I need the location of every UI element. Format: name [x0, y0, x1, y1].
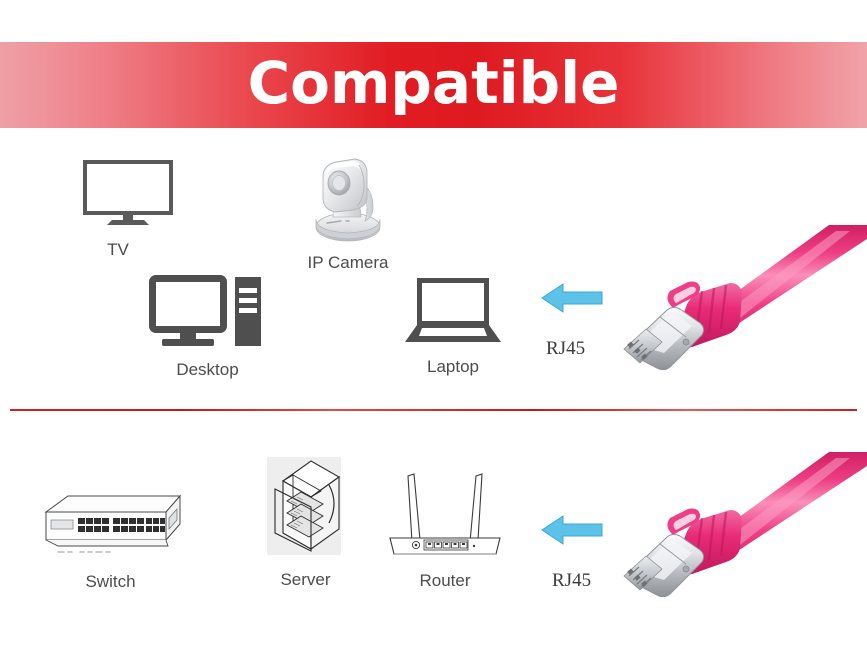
device-label-switch: Switch	[28, 572, 193, 592]
tower-slot	[239, 308, 257, 313]
device-laptop: Laptop	[398, 278, 508, 377]
rj45-cable-icon-bottom	[614, 452, 867, 597]
rj45-cable-svg	[614, 225, 867, 370]
device-server: Server	[258, 455, 353, 590]
tower-slot	[239, 298, 257, 303]
ip-camera-svg	[303, 155, 393, 243]
left-arrow-icon-bottom	[541, 515, 603, 545]
left-arrow-svg	[541, 283, 603, 313]
ip-camera-icon	[303, 155, 393, 243]
tower-slot	[239, 288, 257, 293]
rj45-cable-svg	[614, 452, 867, 597]
laptop-icon	[405, 278, 501, 344]
device-label-desktop: Desktop	[135, 360, 280, 380]
network-switch-icon	[28, 490, 193, 556]
rj45-label-bottom: RJ45	[552, 570, 591, 592]
laptop-screen	[417, 278, 489, 326]
device-label-tv: TV	[43, 240, 193, 260]
wifi-router-svg	[386, 460, 504, 560]
section-divider	[10, 409, 857, 411]
network-switch-svg	[28, 490, 193, 556]
server-rack-svg	[263, 455, 349, 558]
page-title: Compatible	[248, 54, 620, 116]
device-tv: TV	[43, 160, 193, 260]
left-arrow-svg	[541, 515, 603, 545]
device-label-laptop: Laptop	[398, 357, 508, 377]
device-router: Router	[385, 460, 505, 591]
device-label-router: Router	[385, 571, 505, 591]
device-switch: Switch	[28, 490, 193, 592]
left-arrow-icon-top	[541, 283, 603, 313]
rj45-cable-icon-top	[614, 225, 867, 370]
server-rack-icon	[263, 455, 349, 558]
device-ip-camera: IP Camera	[283, 155, 413, 273]
tv-foot	[107, 220, 149, 225]
desktop-monitor	[149, 275, 227, 333]
device-desktop: Desktop	[135, 275, 280, 380]
desktop-computer-icon	[149, 275, 267, 347]
laptop-keyboard	[419, 328, 487, 336]
header-banner: Compatible	[0, 42, 867, 128]
tv-screen	[83, 160, 173, 215]
tv-icon	[63, 160, 173, 228]
desktop-tower	[235, 277, 261, 346]
rj45-label-top: RJ45	[546, 338, 585, 360]
desktop-monitor-base	[162, 339, 214, 346]
wifi-router-icon	[386, 460, 504, 560]
device-label-server: Server	[258, 570, 353, 590]
device-label-ip-camera: IP Camera	[283, 253, 413, 273]
compatibility-diagram: Compatible TV	[0, 0, 867, 650]
